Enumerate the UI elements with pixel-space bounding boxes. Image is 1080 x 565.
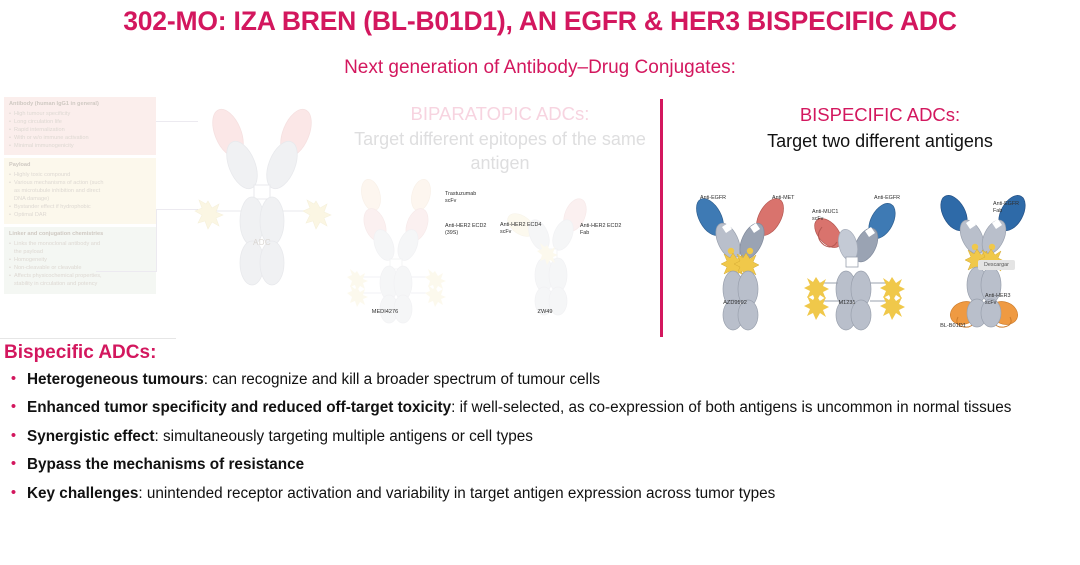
info-box-linker: Linker and conjugation chemistries Links… — [4, 227, 156, 293]
bullet-text: Enhanced tumor specificity and reduced o… — [27, 398, 1080, 418]
bullet-dot-icon: • — [0, 370, 27, 389]
bullet-text: Key challenges: unintended receptor acti… — [27, 484, 1080, 504]
descargar-button[interactable]: Descargar — [978, 260, 1015, 270]
connector-line-linker — [156, 209, 157, 271]
info-item: DNA damage) — [9, 195, 151, 203]
info-box-payload: Payload Highly toxic compound Various me… — [4, 158, 156, 224]
connector-line-linker-horizontal — [96, 271, 157, 272]
biparatopic-label-trastuzumab: Trastuzumab scFv — [445, 191, 476, 206]
adc-components-info-panel: Antibody (human IgG1 in general) High tu… — [4, 97, 156, 297]
bullet-bold: Synergistic effect — [27, 428, 155, 445]
bullet-bold: Bypass the mechanisms of resistance — [27, 456, 304, 473]
list-item: • Synergistic effect: simultaneously tar… — [0, 427, 1080, 447]
info-item: the payload — [9, 248, 151, 256]
bottom-heading: Bispecific ADCs: — [0, 342, 1080, 364]
list-item: • Heterogeneous tumours: can recognize a… — [0, 370, 1080, 390]
section-divider — [660, 99, 663, 337]
list-item: • Enhanced tumor specificity and reduced… — [0, 398, 1080, 418]
bullet-dot-icon: • — [0, 484, 27, 503]
info-box-heading: Linker and conjugation chemistries — [9, 231, 151, 239]
bispecific-heading: BISPECIFIC ADCs: — [680, 104, 1080, 126]
info-item: stability in circulation and potency — [9, 280, 151, 288]
info-item: Links the monoclonal antibody and — [9, 240, 151, 248]
bispecific-label-anti-egfr-fab: Anti-EGFR Fab — [993, 201, 1019, 216]
bispecific-figure-name-m1231: M1231 — [812, 300, 882, 306]
info-item: Affects physicochemical properties, — [9, 272, 151, 280]
biparatopic-figure-name-medi4276: MEDI4276 — [350, 309, 420, 315]
bullet-dot-icon: • — [0, 455, 27, 474]
biparatopic-label-antiher2-ecd2-39s: Anti-HER2 ECD2 (39S) — [445, 223, 486, 238]
biparatopic-heading: BIPARATOPIC ADCs: — [340, 103, 660, 125]
bullet-rest: : unintended receptor activation and var… — [138, 485, 775, 502]
biparatopic-subtitle: Target different epitopes of the same an… — [340, 128, 660, 176]
info-item: Minimal immunogenicity — [9, 142, 151, 150]
bullet-dot-icon: • — [0, 427, 27, 446]
info-box-heading: Antibody (human IgG1 in general) — [9, 101, 151, 109]
bullet-bold: Enhanced tumor specificity and reduced o… — [27, 399, 451, 416]
page-title: 302-MO: IZA BREN (BL-B01D1), AN EGFR & H… — [0, 6, 1080, 37]
biparatopic-figures — [345, 177, 655, 327]
info-item: Highly toxic compound — [9, 171, 151, 179]
biparatopic-label-antiher2-ecd2-fab: Anti-HER2 ECD2 Fab — [580, 223, 621, 238]
bispecific-label-anti-muc1-scfv: Anti-MUC1 scFv — [812, 209, 838, 224]
bullet-bold: Key challenges — [27, 485, 138, 502]
biparatopic-figure-name-zw49: ZW49 — [510, 309, 580, 315]
info-item: Rapid internalization — [9, 126, 151, 134]
bispecific-subtitle: Target two different antigens — [680, 131, 1080, 152]
bispecific-label-anti-met: Anti-MET — [772, 195, 794, 202]
bispecific-figure-name-bl-b01d1: BL-B01D1 — [918, 323, 988, 329]
page-subtitle: Next generation of Antibody–Drug Conjuga… — [0, 57, 1080, 79]
bispecific-label-anti-egfr-m1231: Anti-EGFR — [874, 195, 900, 202]
info-item: Bystander effect if hydrophobic — [9, 203, 151, 211]
bispecific-figure-name-azd9592: AZD9592 — [700, 300, 770, 306]
figure-band: Antibody (human IgG1 in general) High tu… — [0, 95, 1080, 340]
info-box-heading: Payload — [9, 162, 151, 170]
bullet-list: • Heterogeneous tumours: can recognize a… — [0, 370, 1080, 503]
bispecific-adcs-summary: Bispecific ADCs: • Heterogeneous tumours… — [0, 342, 1080, 512]
bullet-text: Bypass the mechanisms of resistance — [27, 455, 1080, 475]
info-item: Long circulation life — [9, 118, 151, 126]
info-item: Various mechanisms of action (such — [9, 179, 151, 187]
bispecific-label-anti-her3-scfv: Anti-HER3 scFv — [985, 293, 1010, 308]
info-item: as microtubule inhibition and direct — [9, 187, 151, 195]
adc-figure-label: ADC — [192, 238, 332, 247]
info-item: With or w/o immune activation — [9, 134, 151, 142]
list-item: • Bypass the mechanisms of resistance — [0, 455, 1080, 475]
bullet-rest: : simultaneously targeting multiple anti… — [155, 428, 533, 445]
adc-antibody-diagram — [192, 103, 332, 303]
bullet-text: Synergistic effect: simultaneously targe… — [27, 427, 1080, 447]
bullet-rest: : if well-selected, as co-expression of … — [451, 399, 1011, 416]
bullet-bold: Heterogeneous tumours — [27, 371, 204, 388]
info-item: Homogeneity — [9, 256, 151, 264]
info-item: High tumour specificity — [9, 110, 151, 118]
bottom-separator — [0, 338, 176, 339]
info-item: Optimal DAR — [9, 211, 151, 219]
info-box-antibody: Antibody (human IgG1 in general) High tu… — [4, 97, 156, 155]
bullet-dot-icon: • — [0, 398, 27, 417]
biparatopic-label-antiher2-ecd4-scfv: Anti-HER2 ECD4 scFv — [500, 222, 541, 237]
bullet-rest: : can recognize and kill a broader spect… — [204, 371, 600, 388]
bispecific-label-anti-egfr-azd: Anti-EGFR — [700, 195, 726, 202]
bullet-text: Heterogeneous tumours: can recognize and… — [27, 370, 1080, 390]
list-item: • Key challenges: unintended receptor ac… — [0, 484, 1080, 504]
